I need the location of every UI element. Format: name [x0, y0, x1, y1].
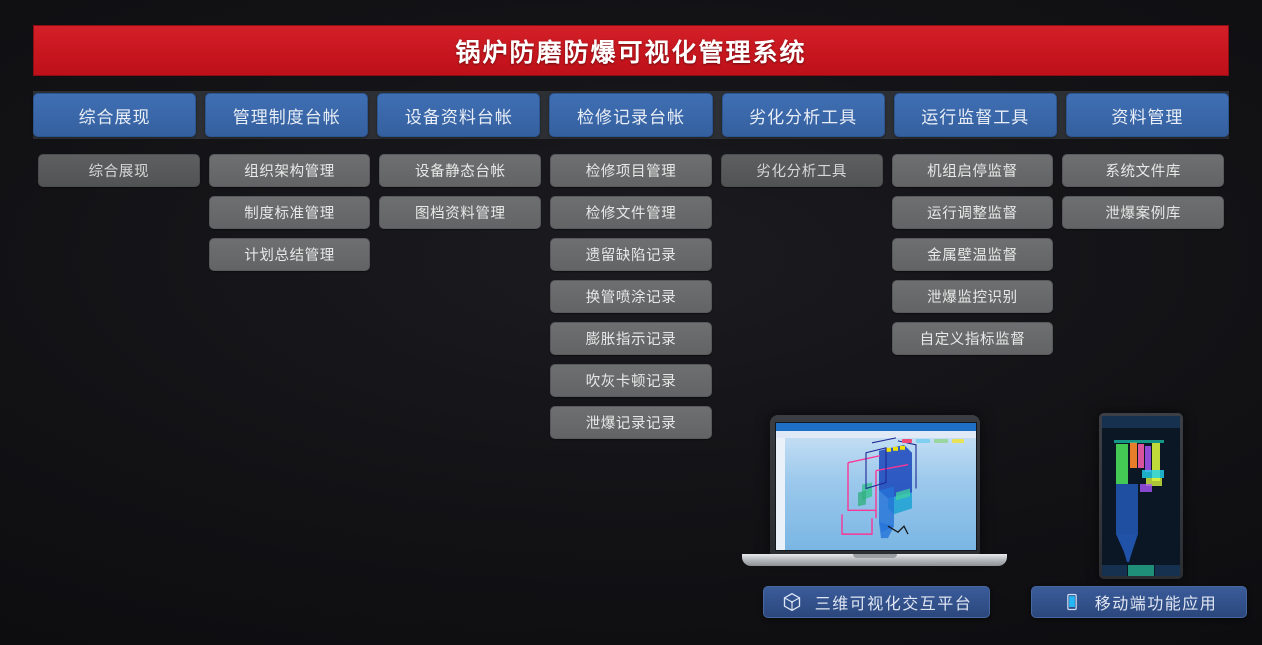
- cube-3d-icon: [781, 591, 803, 613]
- phone-bottom-bar[interactable]: [1102, 565, 1180, 576]
- submenu-item[interactable]: 组织架构管理: [209, 154, 371, 187]
- submenu-item[interactable]: 计划总结管理: [209, 238, 371, 271]
- submenu-item[interactable]: 设备静态台帐: [379, 154, 541, 187]
- submenu-item-label: 检修项目管理: [586, 160, 677, 181]
- nav-button-label: 运行监督工具: [921, 103, 1029, 128]
- submenu-item[interactable]: 图档资料管理: [379, 196, 541, 229]
- page-title: 锅炉防磨防爆可视化管理系统: [455, 33, 806, 69]
- submenu-item-label: 换管喷涂记录: [586, 286, 677, 307]
- submenu-item-label: 图档资料管理: [415, 202, 506, 223]
- submenu-item[interactable]: 泄爆案例库: [1062, 196, 1224, 229]
- nav-button-label: 检修记录台帐: [577, 103, 685, 128]
- 3d-platform-button[interactable]: 三维可视化交互平台: [763, 586, 990, 618]
- phone-mockup: [1099, 413, 1183, 579]
- submenu-item[interactable]: 检修项目管理: [550, 154, 712, 187]
- laptop-mockup: [742, 415, 1007, 575]
- submenu-item[interactable]: 膨胀指示记录: [550, 322, 712, 355]
- mobile-app-label: 移动端功能应用: [1095, 590, 1218, 614]
- submenu-item[interactable]: 换管喷涂记录: [550, 280, 712, 313]
- nav-button-7[interactable]: 资料管理: [1066, 93, 1229, 137]
- nav-button-label: 资料管理: [1111, 103, 1183, 128]
- submenu-column-6: 机组启停监督运行调整监督金属壁温监督泄爆监控识别自定义指标监督: [892, 154, 1054, 355]
- submenu-item[interactable]: 遗留缺陷记录: [550, 238, 712, 271]
- submenu-item[interactable]: 综合展现: [38, 154, 200, 187]
- submenu-item[interactable]: 运行调整监督: [892, 196, 1054, 229]
- mobile-phone-icon: [1061, 591, 1083, 613]
- submenu-column-7: 系统文件库泄爆案例库: [1062, 154, 1224, 229]
- submenu-item[interactable]: 泄爆监控识别: [892, 280, 1054, 313]
- submenu-column-2: 组织架构管理制度标准管理计划总结管理: [209, 154, 371, 271]
- submenu-item-label: 设备静态台帐: [415, 160, 506, 181]
- submenu-column-1: 综合展现: [38, 154, 200, 187]
- nav-button-5[interactable]: 劣化分析工具: [722, 93, 885, 137]
- submenu-item-label: 综合展现: [89, 160, 149, 181]
- laptop-screen: [775, 422, 977, 551]
- submenu-item-label: 机组启停监督: [927, 160, 1018, 181]
- submenu-item[interactable]: 系统文件库: [1062, 154, 1224, 187]
- app-title-banner: 锅炉防磨防爆可视化管理系统: [33, 25, 1229, 76]
- submenu-column-4: 检修项目管理检修文件管理遗留缺陷记录换管喷涂记录膨胀指示记录吹灰卡顿记录泄爆记录…: [550, 154, 712, 439]
- nav-button-label: 综合展现: [79, 103, 151, 128]
- submenu-item-label: 组织架构管理: [244, 160, 335, 181]
- submenu-item-label: 计划总结管理: [244, 244, 335, 265]
- submenu-columns: 综合展现组织架构管理制度标准管理计划总结管理设备静态台帐图档资料管理检修项目管理…: [38, 154, 1224, 439]
- main-navigation: 综合展现管理制度台帐设备资料台帐检修记录台帐劣化分析工具运行监督工具资料管理: [33, 93, 1229, 137]
- laptop-base-notch: [853, 554, 897, 558]
- submenu-item[interactable]: 制度标准管理: [209, 196, 371, 229]
- nav-button-label: 劣化分析工具: [749, 103, 857, 128]
- submenu-item[interactable]: 机组启停监督: [892, 154, 1054, 187]
- submenu-item-label: 遗留缺陷记录: [586, 244, 677, 265]
- submenu-item-label: 泄爆监控识别: [927, 286, 1018, 307]
- submenu-item-label: 检修文件管理: [586, 202, 677, 223]
- submenu-item[interactable]: 检修文件管理: [550, 196, 712, 229]
- submenu-item-label: 吹灰卡顿记录: [586, 370, 677, 391]
- submenu-item[interactable]: 吹灰卡顿记录: [550, 364, 712, 397]
- boiler-3d-model-graphic-mobile: [1102, 416, 1180, 576]
- submenu-item-label: 运行调整监督: [927, 202, 1018, 223]
- nav-button-label: 管理制度台帐: [233, 103, 341, 128]
- submenu-item[interactable]: 劣化分析工具: [721, 154, 883, 187]
- submenu-item-label: 系统文件库: [1105, 160, 1181, 181]
- 3d-platform-label: 三维可视化交互平台: [815, 590, 973, 614]
- submenu-item-label: 劣化分析工具: [756, 160, 847, 181]
- submenu-item-label: 膨胀指示记录: [586, 328, 677, 349]
- nav-button-3[interactable]: 设备资料台帐: [377, 93, 540, 137]
- mobile-app-button[interactable]: 移动端功能应用: [1031, 586, 1247, 618]
- submenu-item-label: 泄爆案例库: [1105, 202, 1181, 223]
- nav-button-2[interactable]: 管理制度台帐: [205, 93, 368, 137]
- nav-button-6[interactable]: 运行监督工具: [894, 93, 1057, 137]
- submenu-item-label: 金属壁温监督: [927, 244, 1018, 265]
- submenu-item[interactable]: 金属壁温监督: [892, 238, 1054, 271]
- submenu-item[interactable]: 自定义指标监督: [892, 322, 1054, 355]
- submenu-column-5: 劣化分析工具: [721, 154, 883, 187]
- submenu-item-label: 制度标准管理: [244, 202, 335, 223]
- nav-button-1[interactable]: 综合展现: [33, 93, 196, 137]
- submenu-item-label: 自定义指标监督: [920, 328, 1026, 349]
- nav-button-label: 设备资料台帐: [405, 103, 513, 128]
- submenu-column-3: 设备静态台帐图档资料管理: [379, 154, 541, 229]
- nav-button-4[interactable]: 检修记录台帐: [549, 93, 712, 137]
- phone-screen: [1102, 416, 1180, 576]
- laptop-lid: [770, 415, 980, 555]
